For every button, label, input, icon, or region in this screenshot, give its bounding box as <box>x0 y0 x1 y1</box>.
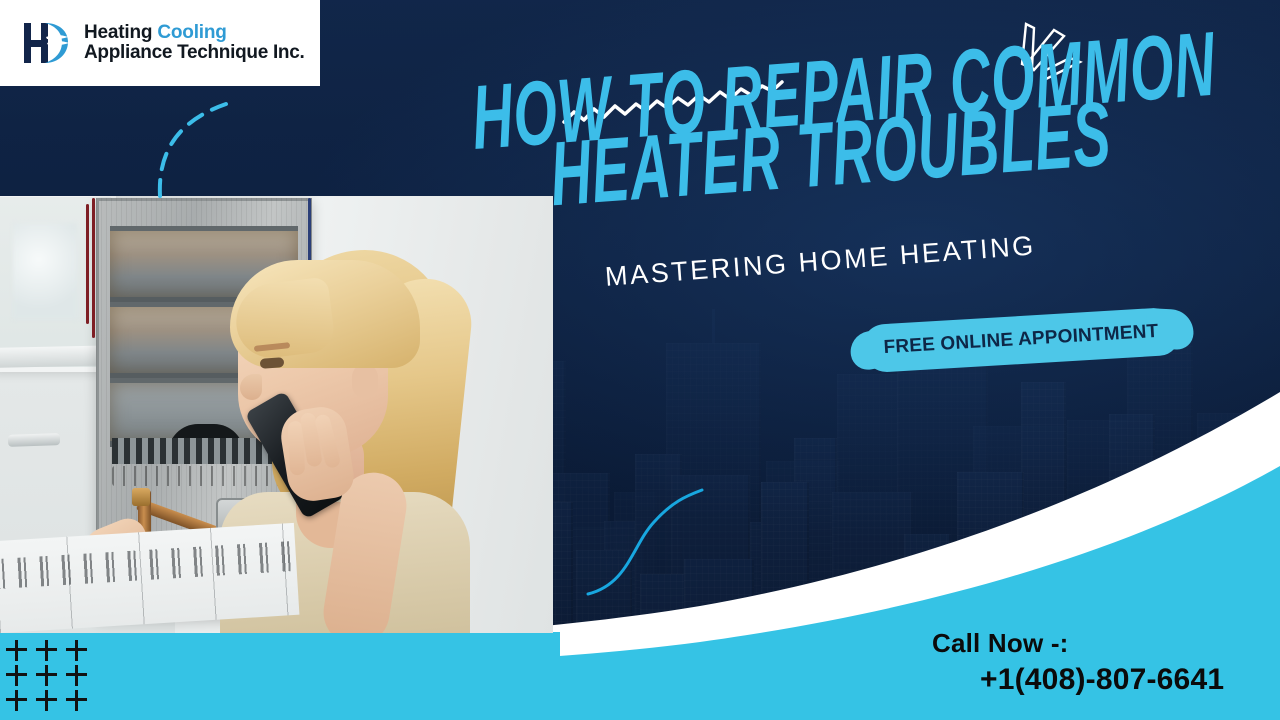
plus-mark <box>36 690 58 712</box>
plus-mark <box>6 665 28 687</box>
woman-eye <box>260 357 285 369</box>
plus-mark <box>66 640 88 662</box>
brand-name-line-1: Heating Cooling <box>84 23 305 43</box>
plus-mark <box>6 640 28 662</box>
plus-mark <box>6 690 28 712</box>
contact-block: Call Now -: +1(408)-807-6641 <box>900 628 1224 697</box>
h-wave-logo-icon <box>18 17 74 69</box>
plus-mark <box>36 640 58 662</box>
photo-cabinet-glass <box>13 223 77 319</box>
wire-red-1 <box>86 204 89 324</box>
phone-number[interactable]: +1(408)-807-6641 <box>980 663 1224 697</box>
call-now-label: Call Now -: <box>932 628 1224 659</box>
plus-mark <box>66 690 88 712</box>
brand-word-heating: Heating <box>84 22 157 43</box>
brass-fitting-1 <box>132 488 150 506</box>
woman-nose <box>240 374 262 400</box>
promo-poster: HOW TO REPAIR COMMON HEATER TROUBLES MAS… <box>0 0 1280 720</box>
headline-block: HOW TO REPAIR COMMON HEATER TROUBLES <box>470 37 1177 210</box>
plus-mark <box>36 665 58 687</box>
photo-tile-border <box>0 523 299 633</box>
brand-logo-plate[interactable]: Heating Cooling Appliance Technique Inc. <box>0 0 320 86</box>
plus-mark <box>66 665 88 687</box>
photo-tap <box>8 433 60 447</box>
wire-red-2 <box>92 198 95 338</box>
brand-word-cooling: Cooling <box>157 22 226 43</box>
brand-name-line-2: Appliance Technique Inc. <box>84 43 305 63</box>
woman-ear <box>352 364 378 398</box>
brand-name: Heating Cooling Appliance Technique Inc. <box>84 23 305 63</box>
hero-photo <box>0 196 553 633</box>
plus-grid-icon <box>6 640 96 715</box>
